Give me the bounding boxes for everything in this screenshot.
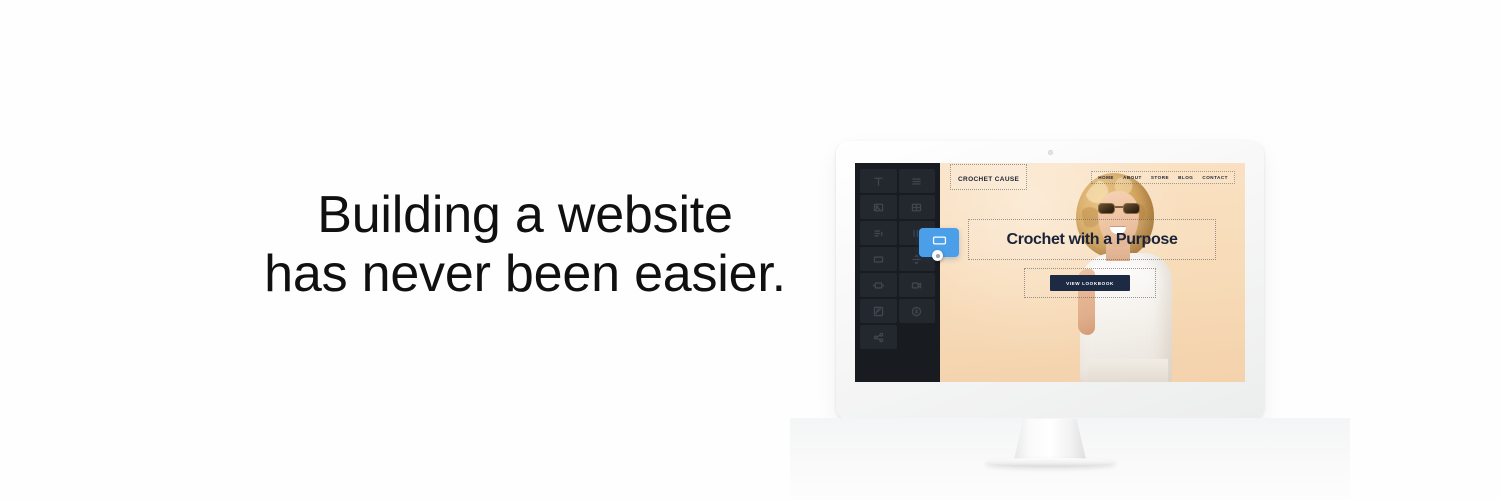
- palette-tile-text[interactable]: [860, 169, 897, 193]
- nav-item-blog[interactable]: BLOG: [1178, 175, 1193, 180]
- share-icon: [872, 331, 885, 344]
- palette-tile-store[interactable]: [899, 299, 936, 323]
- slideshow-icon: [872, 279, 885, 292]
- gallery-grid-icon: [910, 201, 923, 214]
- banner-block-icon: [931, 234, 948, 252]
- website-hero-title[interactable]: Crochet with a Purpose: [968, 219, 1216, 260]
- video-icon: [910, 279, 923, 292]
- palette-tile-video[interactable]: [899, 273, 936, 297]
- form-icon: [872, 305, 885, 318]
- list-icon: [910, 175, 923, 188]
- palette-tile-list[interactable]: [899, 169, 936, 193]
- palette-tile-gallery[interactable]: [899, 195, 936, 219]
- desktop-monitor: CROCHET CAUSE HOME ABOUT STORE BLOG CONT…: [836, 141, 1264, 420]
- page-title: Building a website has never been easier…: [255, 186, 795, 304]
- nav-item-about[interactable]: ABOUT: [1123, 175, 1142, 180]
- view-lookbook-label: VIEW LOOKBOOK: [1066, 281, 1114, 286]
- drag-cursor-icon: [932, 250, 943, 261]
- text-icon: [872, 175, 885, 188]
- text-block-icon: [872, 227, 885, 240]
- nav-item-contact[interactable]: CONTACT: [1202, 175, 1228, 180]
- website-canvas: CROCHET CAUSE HOME ABOUT STORE BLOG CONT…: [940, 163, 1245, 382]
- nav-item-store[interactable]: STORE: [1151, 175, 1169, 180]
- view-lookbook-button[interactable]: VIEW LOOKBOOK: [1050, 275, 1130, 291]
- editor-sidebar: [855, 163, 940, 382]
- palette-tile-slideshow[interactable]: [860, 273, 897, 297]
- image-icon: [872, 201, 885, 214]
- hero-headline-block: Building a website has never been easier…: [255, 186, 795, 304]
- dress-waist-shape: [1088, 359, 1168, 382]
- palette-tile-form[interactable]: [860, 299, 897, 323]
- store-icon: [910, 305, 923, 318]
- website-logo[interactable]: CROCHET CAUSE: [950, 164, 1027, 190]
- page-root: Building a website has never been easier…: [0, 0, 1500, 500]
- palette-tile-empty: [899, 325, 936, 349]
- palette-tile-banner[interactable]: [860, 247, 897, 271]
- nav-item-home[interactable]: HOME: [1098, 175, 1114, 180]
- monitor-stand-base: [985, 458, 1116, 467]
- banner-icon: [872, 253, 885, 266]
- editor-block-palette: [860, 169, 935, 349]
- website-nav[interactable]: HOME ABOUT STORE BLOG CONTACT: [1091, 171, 1235, 184]
- sunglasses-icon: [1098, 203, 1140, 214]
- website-header: CROCHET CAUSE HOME ABOUT STORE BLOG CONT…: [940, 163, 1245, 191]
- monitor-screen: CROCHET CAUSE HOME ABOUT STORE BLOG CONT…: [855, 163, 1245, 382]
- palette-tile-image[interactable]: [860, 195, 897, 219]
- website-logo-text: CROCHET CAUSE: [958, 176, 1019, 183]
- palette-tile-text-block[interactable]: [860, 221, 897, 245]
- webcam-dot-icon: [1048, 150, 1053, 155]
- palette-tile-share[interactable]: [860, 325, 897, 349]
